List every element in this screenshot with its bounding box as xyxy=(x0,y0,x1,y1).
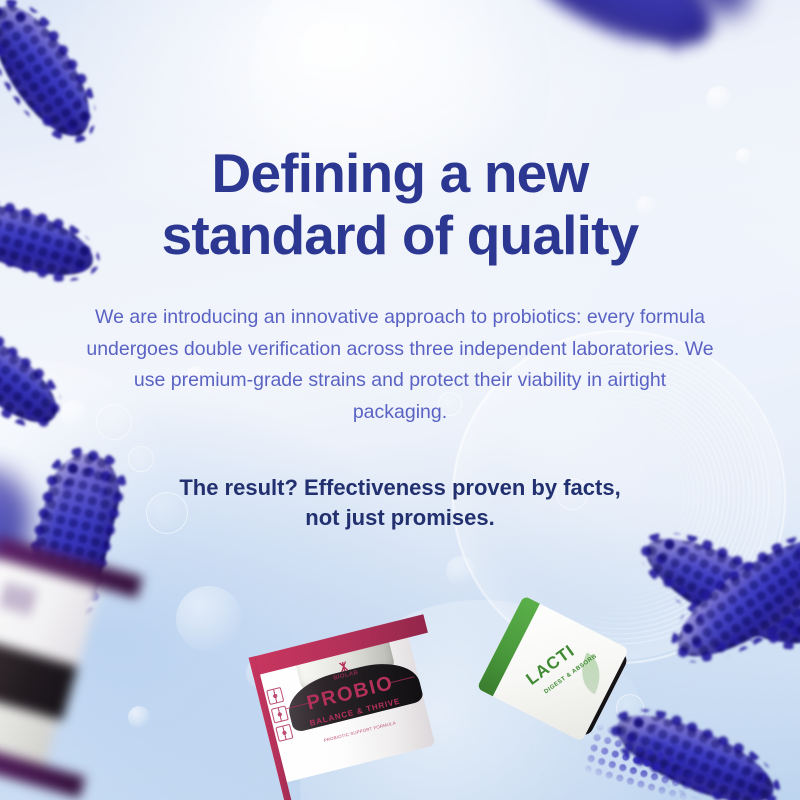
lacti-bottle-label: LACTI DIGEST & ABSORB xyxy=(477,595,629,741)
page-title: Defining a new standard of quality xyxy=(0,142,800,266)
tagline: The result? Effectiveness proven by fact… xyxy=(0,473,800,535)
product-bottle-lacti: LACTI DIGEST & ABSORB xyxy=(438,595,685,800)
bokeh-8 xyxy=(446,556,476,586)
bokeh-ring-6 xyxy=(668,726,690,748)
headline-line-1: Defining a new xyxy=(60,142,740,204)
microbe-rod-bottom-right-1 xyxy=(633,519,800,663)
tagline-line-2: not just promises. xyxy=(110,503,690,534)
microbe-rod-bottom-right-2 xyxy=(662,519,800,676)
lacti-product-title: LACTI xyxy=(523,641,579,690)
probio-bottle-label: BIOLAB PROBIO BALANCE & THRIVE PROBIOTIC… xyxy=(249,619,436,784)
pictogram-icon xyxy=(275,724,293,742)
pictogram-icon xyxy=(266,687,284,705)
tagline-line-1: The result? Effectiveness proven by fact… xyxy=(110,473,690,504)
bokeh-7 xyxy=(128,706,150,728)
pictogram-icon xyxy=(271,705,289,723)
promo-poster: Defining a new standard of quality We ar… xyxy=(0,0,800,800)
product-bottle-probio: BIOLAB PROBIO BALANCE & THRIVE PROBIOTIC… xyxy=(249,614,472,800)
product-bottle-violet xyxy=(0,536,143,798)
bokeh-5 xyxy=(176,586,242,652)
text-content: Defining a new standard of quality We ar… xyxy=(0,0,800,534)
headline-line-2: standard of quality xyxy=(60,204,740,266)
violet-mark xyxy=(22,588,35,615)
body-paragraph: We are introducing an innovative approac… xyxy=(0,302,800,428)
violet-label-marks xyxy=(1,582,35,615)
microbe-knobs xyxy=(652,510,800,687)
